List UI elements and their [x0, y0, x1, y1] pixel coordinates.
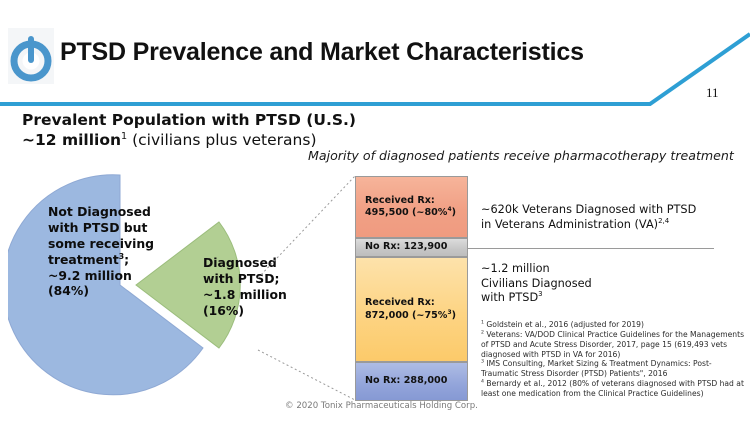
subhead-population-value: ~12 million — [22, 131, 121, 149]
annotation-civilians-line2: Civilians Diagnosed — [481, 277, 592, 290]
bar-rx1-line2: 495,500 (~80% — [365, 207, 447, 218]
bar-label-civilians-received-rx: Received Rx: 872,000 (~75%3) — [356, 297, 456, 322]
annotation-veterans-line2: in Veterans Administration (VA) — [481, 218, 658, 231]
slide-canvas: PTSD Prevalence and Market Characteristi… — [0, 0, 750, 421]
annotation-veterans-line1: ~620k Veterans Diagnosed with PTSD — [481, 203, 696, 216]
footnote-1: 1 Goldstein et al., 2016 (adjusted for 2… — [481, 320, 747, 330]
subhead-line-1: Prevalent Population with PTSD (U.S.) — [22, 110, 442, 130]
annotation-veterans-sup: 2,4 — [658, 217, 669, 225]
annotation-divider — [468, 248, 714, 249]
bar-rx2-line1: Received Rx: — [365, 297, 435, 308]
subhead-block: Prevalent Population with PTSD (U.S.) ~1… — [22, 110, 442, 151]
footnotes-block: 1 Goldstein et al., 2016 (adjusted for 2… — [481, 320, 747, 399]
footnote-2-text: Veterans: VA/DOD Clinical Practice Guide… — [481, 330, 744, 359]
footnote-4: 4 Bernardy et al., 2012 (80% of veterans… — [481, 379, 747, 399]
footnote-1-text: Goldstein et al., 2016 (adjusted for 201… — [486, 320, 644, 329]
footnote-4-mark: 4 — [481, 380, 484, 385]
annotation-civilians-line3: with PTSD — [481, 291, 538, 304]
footnote-3-text: IMS Consulting, Market Sizing & Treatmen… — [481, 359, 712, 378]
annotation-veterans: ~620k Veterans Diagnosed with PTSD in Ve… — [481, 203, 741, 232]
tonix-power-button-logo-icon — [8, 28, 54, 84]
pie-label-not-diagnosed: Not Diagnosedwith PTSD butsome receiving… — [48, 204, 188, 299]
annotation-civilians-sup: 3 — [538, 291, 542, 299]
annotation-civilians: ~1.2 million Civilians Diagnosed with PT… — [481, 262, 731, 306]
bar-rx2-line2end: ) — [452, 310, 456, 321]
bar-segment-civilians-no-rx: No Rx: 288,000 — [355, 362, 468, 401]
bar-rx1-line2end: ) — [452, 207, 456, 218]
footnote-1-mark: 1 — [481, 320, 484, 325]
bar-segment-veterans-no-rx: No Rx: 123,900 — [355, 238, 468, 257]
footnote-2: 2 Veterans: VA/DOD Clinical Practice Gui… — [481, 330, 747, 360]
page-number: 11 — [706, 85, 719, 101]
footnote-4-text: Bernardy et al., 2012 (80% of veterans d… — [481, 379, 744, 398]
footnote-2-mark: 2 — [481, 330, 484, 335]
bar-segment-civilians-received-rx: Received Rx: 872,000 (~75%3) — [355, 257, 468, 362]
bar-rx2-line2: 872,000 (~75% — [365, 310, 447, 321]
subhead-population-qualifier: (civilians plus veterans) — [127, 131, 316, 149]
footnote-3-mark: 3 — [481, 360, 484, 365]
bar-label-veterans-received-rx: Received Rx: 495,500 (~80%4) — [356, 195, 456, 220]
bar-rx1-line1: Received Rx: — [365, 195, 435, 206]
treatment-stacked-bars: Received Rx: 495,500 (~80%4) No Rx: 123,… — [355, 176, 468, 401]
page-title: PTSD Prevalence and Market Characteristi… — [60, 38, 584, 67]
bar-segment-veterans-received-rx: Received Rx: 495,500 (~80%4) — [355, 176, 468, 238]
copyright-notice: © 2020 Tonix Pharmaceuticals Holding Cor… — [285, 401, 478, 411]
pie-label-footnote-mark: 3 — [119, 252, 124, 261]
bar-label-veterans-no-rx: No Rx: 123,900 — [356, 241, 447, 253]
annotation-civilians-line1: ~1.2 million — [481, 262, 550, 275]
footnote-3: 3 IMS Consulting, Market Sizing & Treatm… — [481, 359, 747, 379]
bar-label-civilians-no-rx: No Rx: 288,000 — [356, 375, 447, 387]
